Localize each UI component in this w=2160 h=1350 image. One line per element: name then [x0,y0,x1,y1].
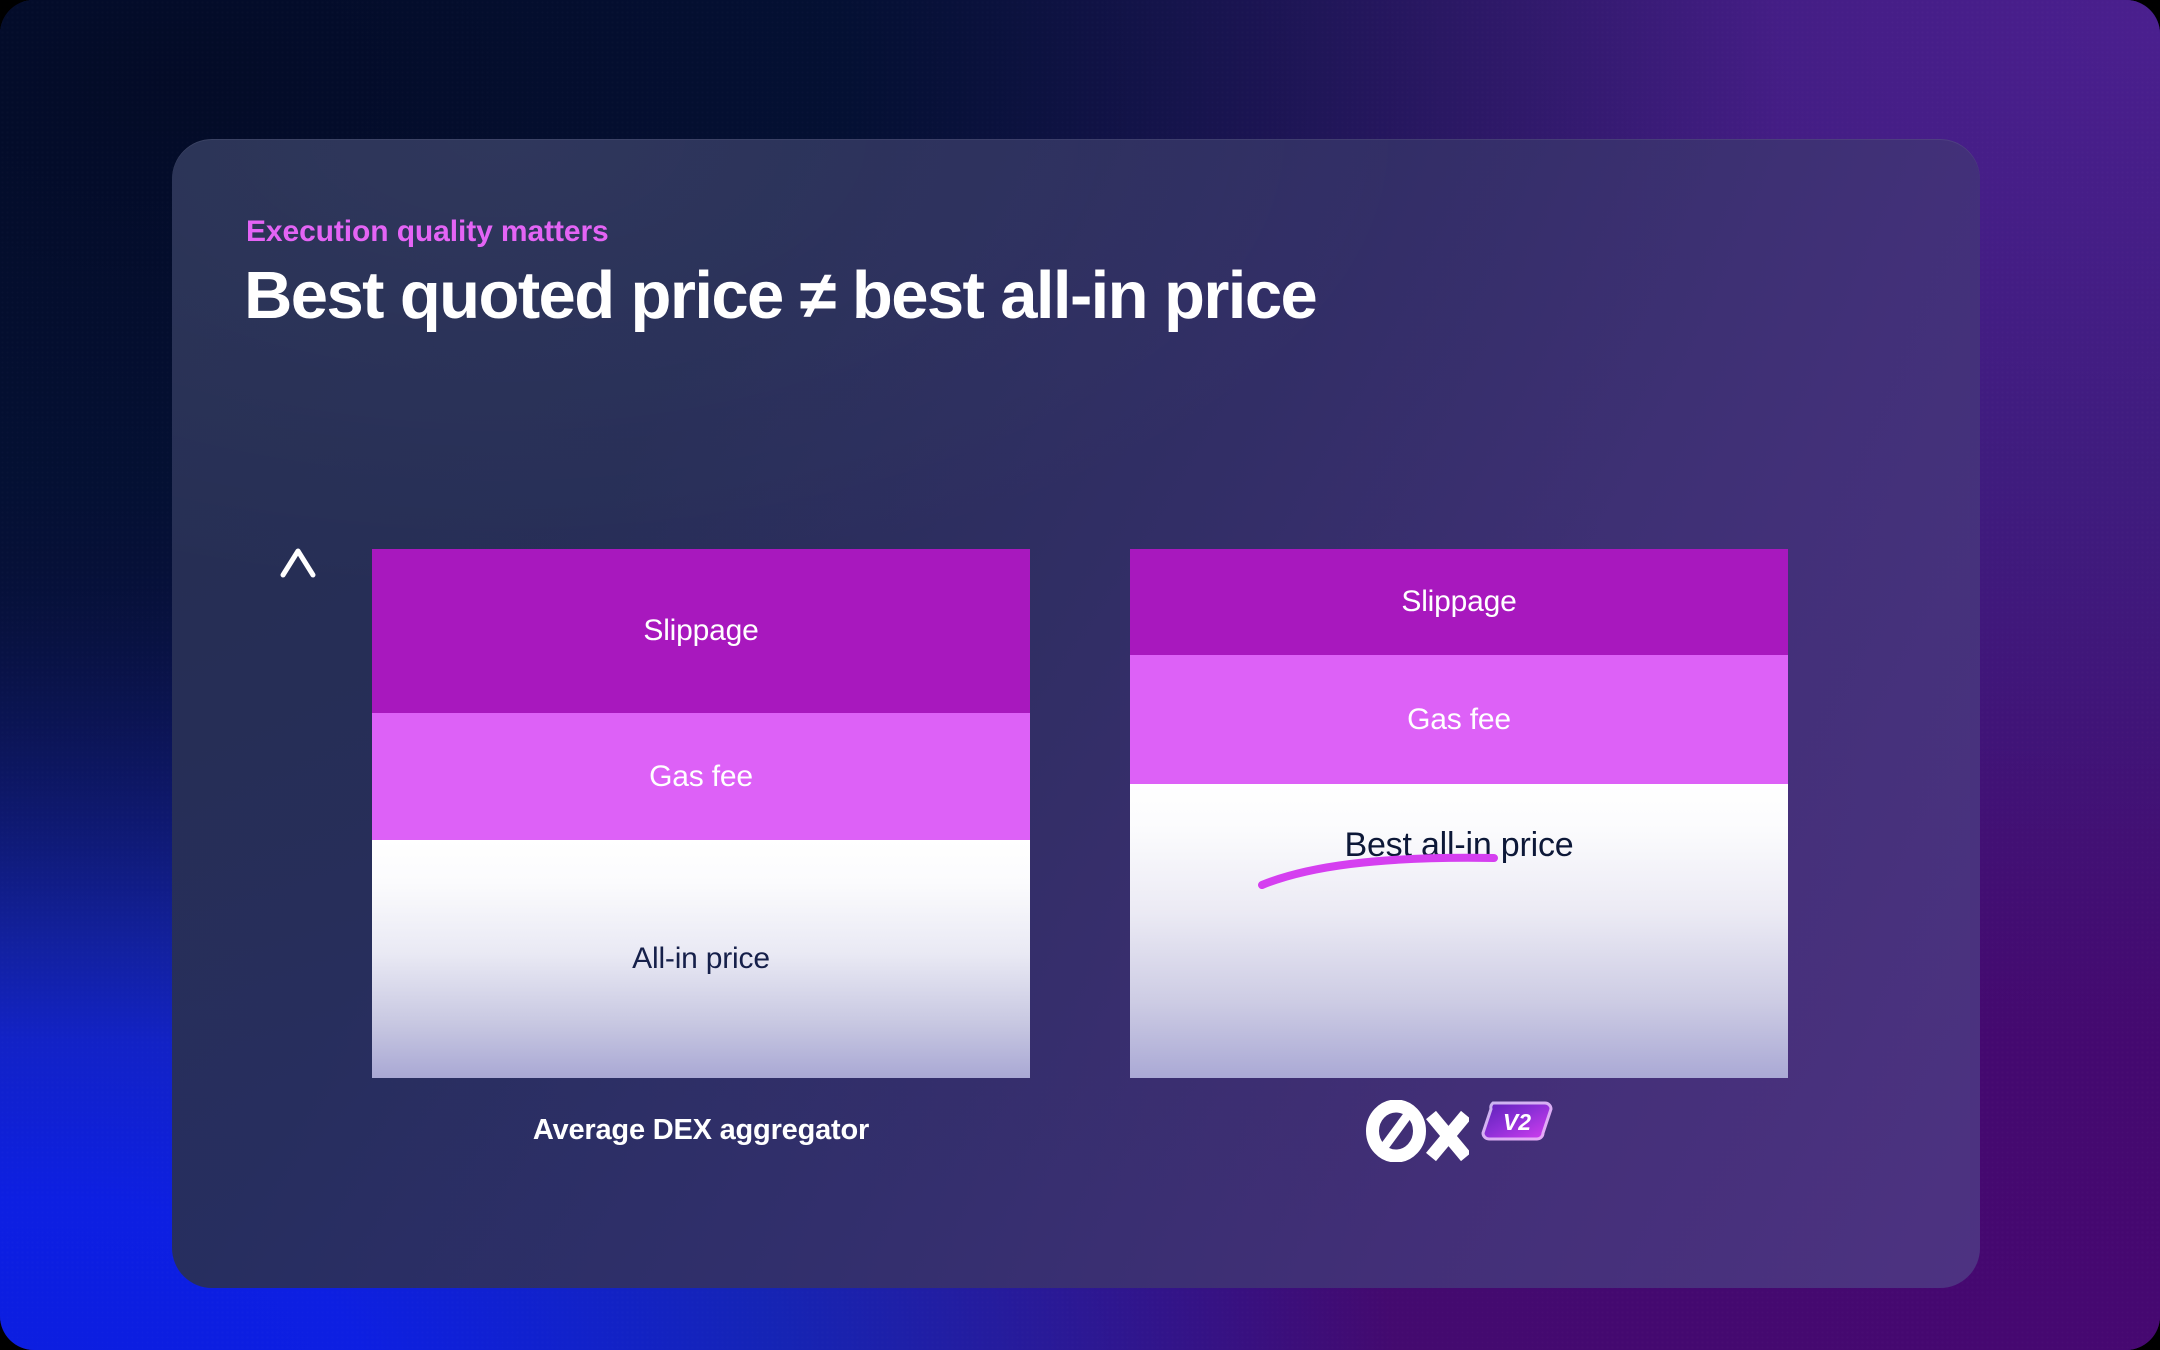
bar-segment-label: Slippage [1401,585,1516,619]
bar-segment-all-in-price: All-in price [372,840,1030,1078]
bar-segment-label: Best all-in price [1344,826,1573,865]
stacked-bar-chart: Slippage Gas fee All-in price Slippage G… [172,139,1980,1288]
bar-segment-label: Gas fee [649,760,753,794]
zerox-logo-icon: V2 [1130,1101,1788,1171]
bar-segment-slippage: Slippage [372,549,1030,713]
bar-segment-label: All-in price [632,942,770,976]
bar-segment-label: Slippage [643,614,758,648]
v2-badge-icon: V2 [1481,1099,1553,1148]
zerox-wordmark [1365,1100,1469,1172]
v2-badge-shape: V2 [1481,1099,1553,1143]
bar-segment-best-all-in-price: Best all-in price [1130,784,1788,1078]
arrow-up-icon [278,542,318,1222]
slide-canvas: Execution quality matters Best quoted pr… [0,0,2160,1350]
svg-text:V2: V2 [1503,1109,1531,1135]
content-card: Execution quality matters Best quoted pr… [172,139,1980,1288]
bar-segment-gas-fee: Gas fee [372,713,1030,840]
zerox-wordmark-glyphs [1365,1100,1469,1162]
bar-segment-gas-fee: Gas fee [1130,655,1788,784]
bar-zerox-v2: Slippage Gas fee Best all-in price [1130,549,1788,1078]
bar-segment-slippage: Slippage [1130,549,1788,655]
bar-average-dex-aggregator: Slippage Gas fee All-in price [372,549,1030,1078]
bar-caption-average-dex-aggregator: Average DEX aggregator [372,1114,1030,1147]
bar-segment-label: Gas fee [1407,703,1511,737]
